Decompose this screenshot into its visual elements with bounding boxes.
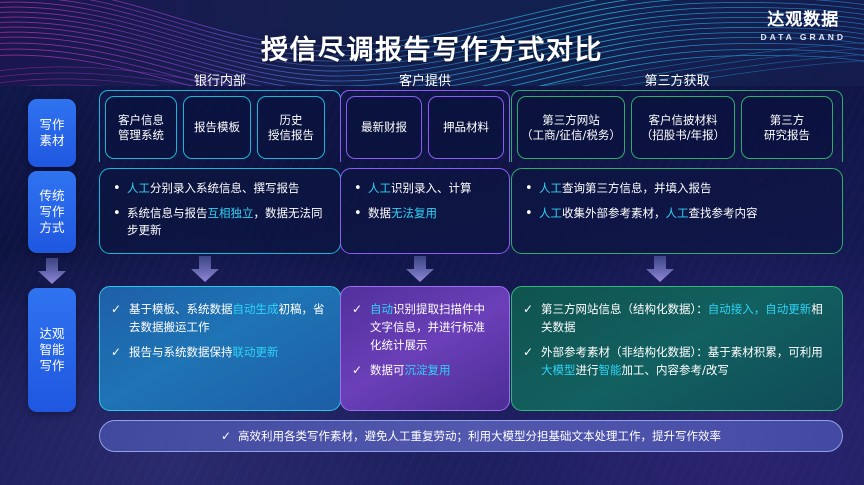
check-icon: ✓ bbox=[352, 361, 370, 379]
material-box[interactable]: 客户信息管理系统 bbox=[105, 96, 177, 159]
bullet-text: 数据无法复用 bbox=[368, 205, 496, 222]
highlighted-text: 联动更新 bbox=[233, 345, 279, 359]
bullet-text: 系统信息与报告互相独立，数据无法同步更新 bbox=[127, 205, 327, 239]
summary-text: 高效利用各类写作素材，避免人工重复劳动；利用大模型分担基础文本处理工作，提升写作… bbox=[238, 428, 721, 444]
plain-text: 系统信息与报告 bbox=[127, 206, 208, 220]
down-arrow-icon-bank bbox=[190, 256, 220, 282]
rail-line: 写作 bbox=[39, 117, 64, 133]
rail-line: 写作 bbox=[39, 358, 64, 374]
highlighted-text: 自动生成 bbox=[233, 302, 279, 316]
rail-line: 方式 bbox=[39, 220, 64, 236]
smart-box-bank: ✓基于模板、系统数据自动生成初稿，省去数据搬运工作✓报告与系统数据保持联动更新 bbox=[99, 286, 341, 411]
rail-line: 智能 bbox=[39, 342, 64, 358]
check-icon: ✓ bbox=[111, 343, 129, 361]
highlighted-text: 沉淀复用 bbox=[405, 363, 451, 377]
material-box-label: 历史授信报告 bbox=[268, 113, 314, 143]
check-text: 外部参考素材（非结构化数据）：基于素材积累，可利用大模型进行智能加工、内容参考/… bbox=[541, 343, 829, 379]
plain-text: 收集外部参考素材， bbox=[562, 206, 666, 220]
traditional-box-thirdparty: •人工查询第三方信息，并填入报告•人工收集外部参考素材，人工查找参考内容 bbox=[511, 168, 843, 254]
highlighted-text: 人工 bbox=[127, 181, 150, 195]
check-icon: ✓ bbox=[111, 300, 129, 336]
material-box[interactable]: 押品材料 bbox=[428, 96, 504, 159]
check-item: ✓基于模板、系统数据自动生成初稿，省去数据搬运工作 bbox=[111, 300, 327, 336]
material-box[interactable]: 历史授信报告 bbox=[257, 96, 325, 159]
bullet-item: •人工分别录入系统信息、撰写报告 bbox=[113, 180, 327, 197]
rail-line: 写作 bbox=[39, 204, 64, 220]
plain-text: 数据 bbox=[368, 206, 391, 220]
bullet-text: 人工查询第三方信息，并填入报告 bbox=[539, 180, 829, 197]
check-text: 自动识别提取扫描件中文字信息，并进行标准化统计展示 bbox=[370, 300, 496, 354]
rail-label-traditional-writing: 传统写作方式 bbox=[28, 171, 76, 253]
page-title: 授信尽调报告写作方式对比 bbox=[0, 28, 864, 67]
bullet-item: •人工收集外部参考素材，人工查找参考内容 bbox=[525, 205, 829, 222]
plain-text: 分别录入系统信息、撰写报告 bbox=[150, 181, 300, 195]
smart-box-customer: ✓自动识别提取扫描件中文字信息，并进行标准化统计展示✓数据可沉淀复用 bbox=[340, 286, 510, 411]
highlighted-text: 人工 bbox=[539, 206, 562, 220]
material-box-label: 最新财报 bbox=[361, 120, 407, 135]
plain-text: 数据可 bbox=[370, 363, 405, 377]
bullet-dot-icon: • bbox=[113, 205, 127, 239]
plain-text: 第三方网站信息（结构化数据）： bbox=[541, 302, 708, 316]
bullet-text: 人工识别录入、计算 bbox=[368, 180, 496, 197]
bullet-dot-icon: • bbox=[525, 205, 539, 222]
rail-down-arrow-icon bbox=[37, 258, 67, 284]
plain-text: 查找参考内容 bbox=[689, 206, 758, 220]
bullet-dot-icon: • bbox=[113, 180, 127, 197]
check-item: ✓数据可沉淀复用 bbox=[352, 361, 496, 379]
material-box-label: 报告模板 bbox=[194, 120, 240, 135]
highlighted-text: 人工 bbox=[368, 181, 391, 195]
highlighted-text: 自动接入，自动更新 bbox=[708, 302, 812, 316]
group-caption-bank-internal: 银行内部 bbox=[100, 70, 340, 89]
check-item: ✓第三方网站信息（结构化数据）：自动接入，自动更新相关数据 bbox=[523, 300, 829, 336]
group-caption-third-party: 第三方获取 bbox=[512, 70, 842, 89]
check-text: 报告与系统数据保持联动更新 bbox=[129, 343, 327, 361]
plain-text: 外部参考素材（非结构化数据）：基于素材积累，可利用 bbox=[541, 345, 823, 359]
check-icon: ✓ bbox=[523, 300, 541, 336]
material-box-label: 第三方网站（工商/征信/税务） bbox=[521, 113, 621, 143]
traditional-box-customer: •人工识别录入、计算•数据无法复用 bbox=[340, 168, 510, 254]
material-box-label: 押品材料 bbox=[443, 120, 489, 135]
bullet-item: •人工识别录入、计算 bbox=[354, 180, 496, 197]
bullet-dot-icon: • bbox=[354, 180, 368, 197]
highlighted-text: 人工 bbox=[539, 181, 562, 195]
check-icon: ✓ bbox=[523, 343, 541, 379]
bullet-item: •数据无法复用 bbox=[354, 205, 496, 222]
highlighted-text: 智能 bbox=[599, 363, 622, 377]
material-box[interactable]: 报告模板 bbox=[183, 96, 251, 159]
plain-text: 进行 bbox=[576, 363, 599, 377]
rail-label-text: 写作素材 bbox=[39, 117, 64, 149]
plain-text: 报告与系统数据保持 bbox=[129, 345, 233, 359]
rail-label-writing-materials: 写作素材 bbox=[28, 99, 76, 167]
highlighted-text: 大模型 bbox=[541, 363, 576, 377]
material-box[interactable]: 客户信披材料（招股书/年报） bbox=[631, 96, 735, 159]
traditional-box-bank: •人工分别录入系统信息、撰写报告•系统信息与报告互相独立，数据无法同步更新 bbox=[99, 168, 341, 254]
plain-text: 基于模板、系统数据 bbox=[129, 302, 233, 316]
check-icon: ✓ bbox=[221, 429, 231, 443]
rail-line: 达观 bbox=[39, 326, 64, 342]
check-item: ✓报告与系统数据保持联动更新 bbox=[111, 343, 327, 361]
material-box[interactable]: 最新财报 bbox=[346, 96, 422, 159]
material-box-label: 客户信披材料（招股书/年报） bbox=[641, 113, 725, 143]
check-item: ✓自动识别提取扫描件中文字信息，并进行标准化统计展示 bbox=[352, 300, 496, 354]
material-box[interactable]: 第三方研究报告 bbox=[741, 96, 833, 159]
bullet-item: •系统信息与报告互相独立，数据无法同步更新 bbox=[113, 205, 327, 239]
smart-box-thirdparty: ✓第三方网站信息（结构化数据）：自动接入，自动更新相关数据✓外部参考素材（非结构… bbox=[511, 286, 843, 411]
highlighted-text: 无法复用 bbox=[391, 206, 437, 220]
check-item: ✓外部参考素材（非结构化数据）：基于素材积累，可利用大模型进行智能加工、内容参考… bbox=[523, 343, 829, 379]
group-caption-customer-provided: 客户提供 bbox=[341, 70, 509, 89]
bullet-text: 人工分别录入系统信息、撰写报告 bbox=[127, 180, 327, 197]
rail-label-text: 传统写作方式 bbox=[39, 188, 64, 236]
summary-bar: ✓ 高效利用各类写作素材，避免人工重复劳动；利用大模型分担基础文本处理工作，提升… bbox=[99, 420, 843, 452]
check-text: 第三方网站信息（结构化数据）：自动接入，自动更新相关数据 bbox=[541, 300, 829, 336]
highlighted-text: 人工 bbox=[666, 206, 689, 220]
rail-line: 素材 bbox=[39, 133, 64, 149]
bullet-dot-icon: • bbox=[525, 180, 539, 197]
material-box-label: 客户信息管理系统 bbox=[118, 113, 164, 143]
plain-text: 识别录入、计算 bbox=[391, 181, 472, 195]
check-icon: ✓ bbox=[352, 300, 370, 354]
bullet-item: •人工查询第三方信息，并填入报告 bbox=[525, 180, 829, 197]
plain-text: 查询第三方信息，并填入报告 bbox=[562, 181, 712, 195]
check-text: 数据可沉淀复用 bbox=[370, 361, 496, 379]
bullet-dot-icon: • bbox=[354, 205, 368, 222]
logo-chinese-name: 达观数据 bbox=[760, 12, 846, 29]
highlighted-text: 自动 bbox=[370, 302, 393, 316]
rail-line: 传统 bbox=[39, 188, 64, 204]
down-arrow-icon-thirdparty bbox=[645, 256, 675, 282]
rail-label-text: 达观智能写作 bbox=[39, 326, 64, 374]
material-box[interactable]: 第三方网站（工商/征信/税务） bbox=[517, 96, 625, 159]
bullet-text: 人工收集外部参考素材，人工查找参考内容 bbox=[539, 205, 829, 222]
down-arrow-icon-customer bbox=[405, 256, 435, 282]
check-text: 基于模板、系统数据自动生成初稿，省去数据搬运工作 bbox=[129, 300, 327, 336]
rail-label-datagrand-smart-writing: 达观智能写作 bbox=[28, 288, 76, 412]
plain-text: 加工、内容参考/改写 bbox=[622, 363, 729, 377]
highlighted-text: 互相独立 bbox=[208, 206, 254, 220]
material-box-label: 第三方研究报告 bbox=[764, 113, 810, 143]
